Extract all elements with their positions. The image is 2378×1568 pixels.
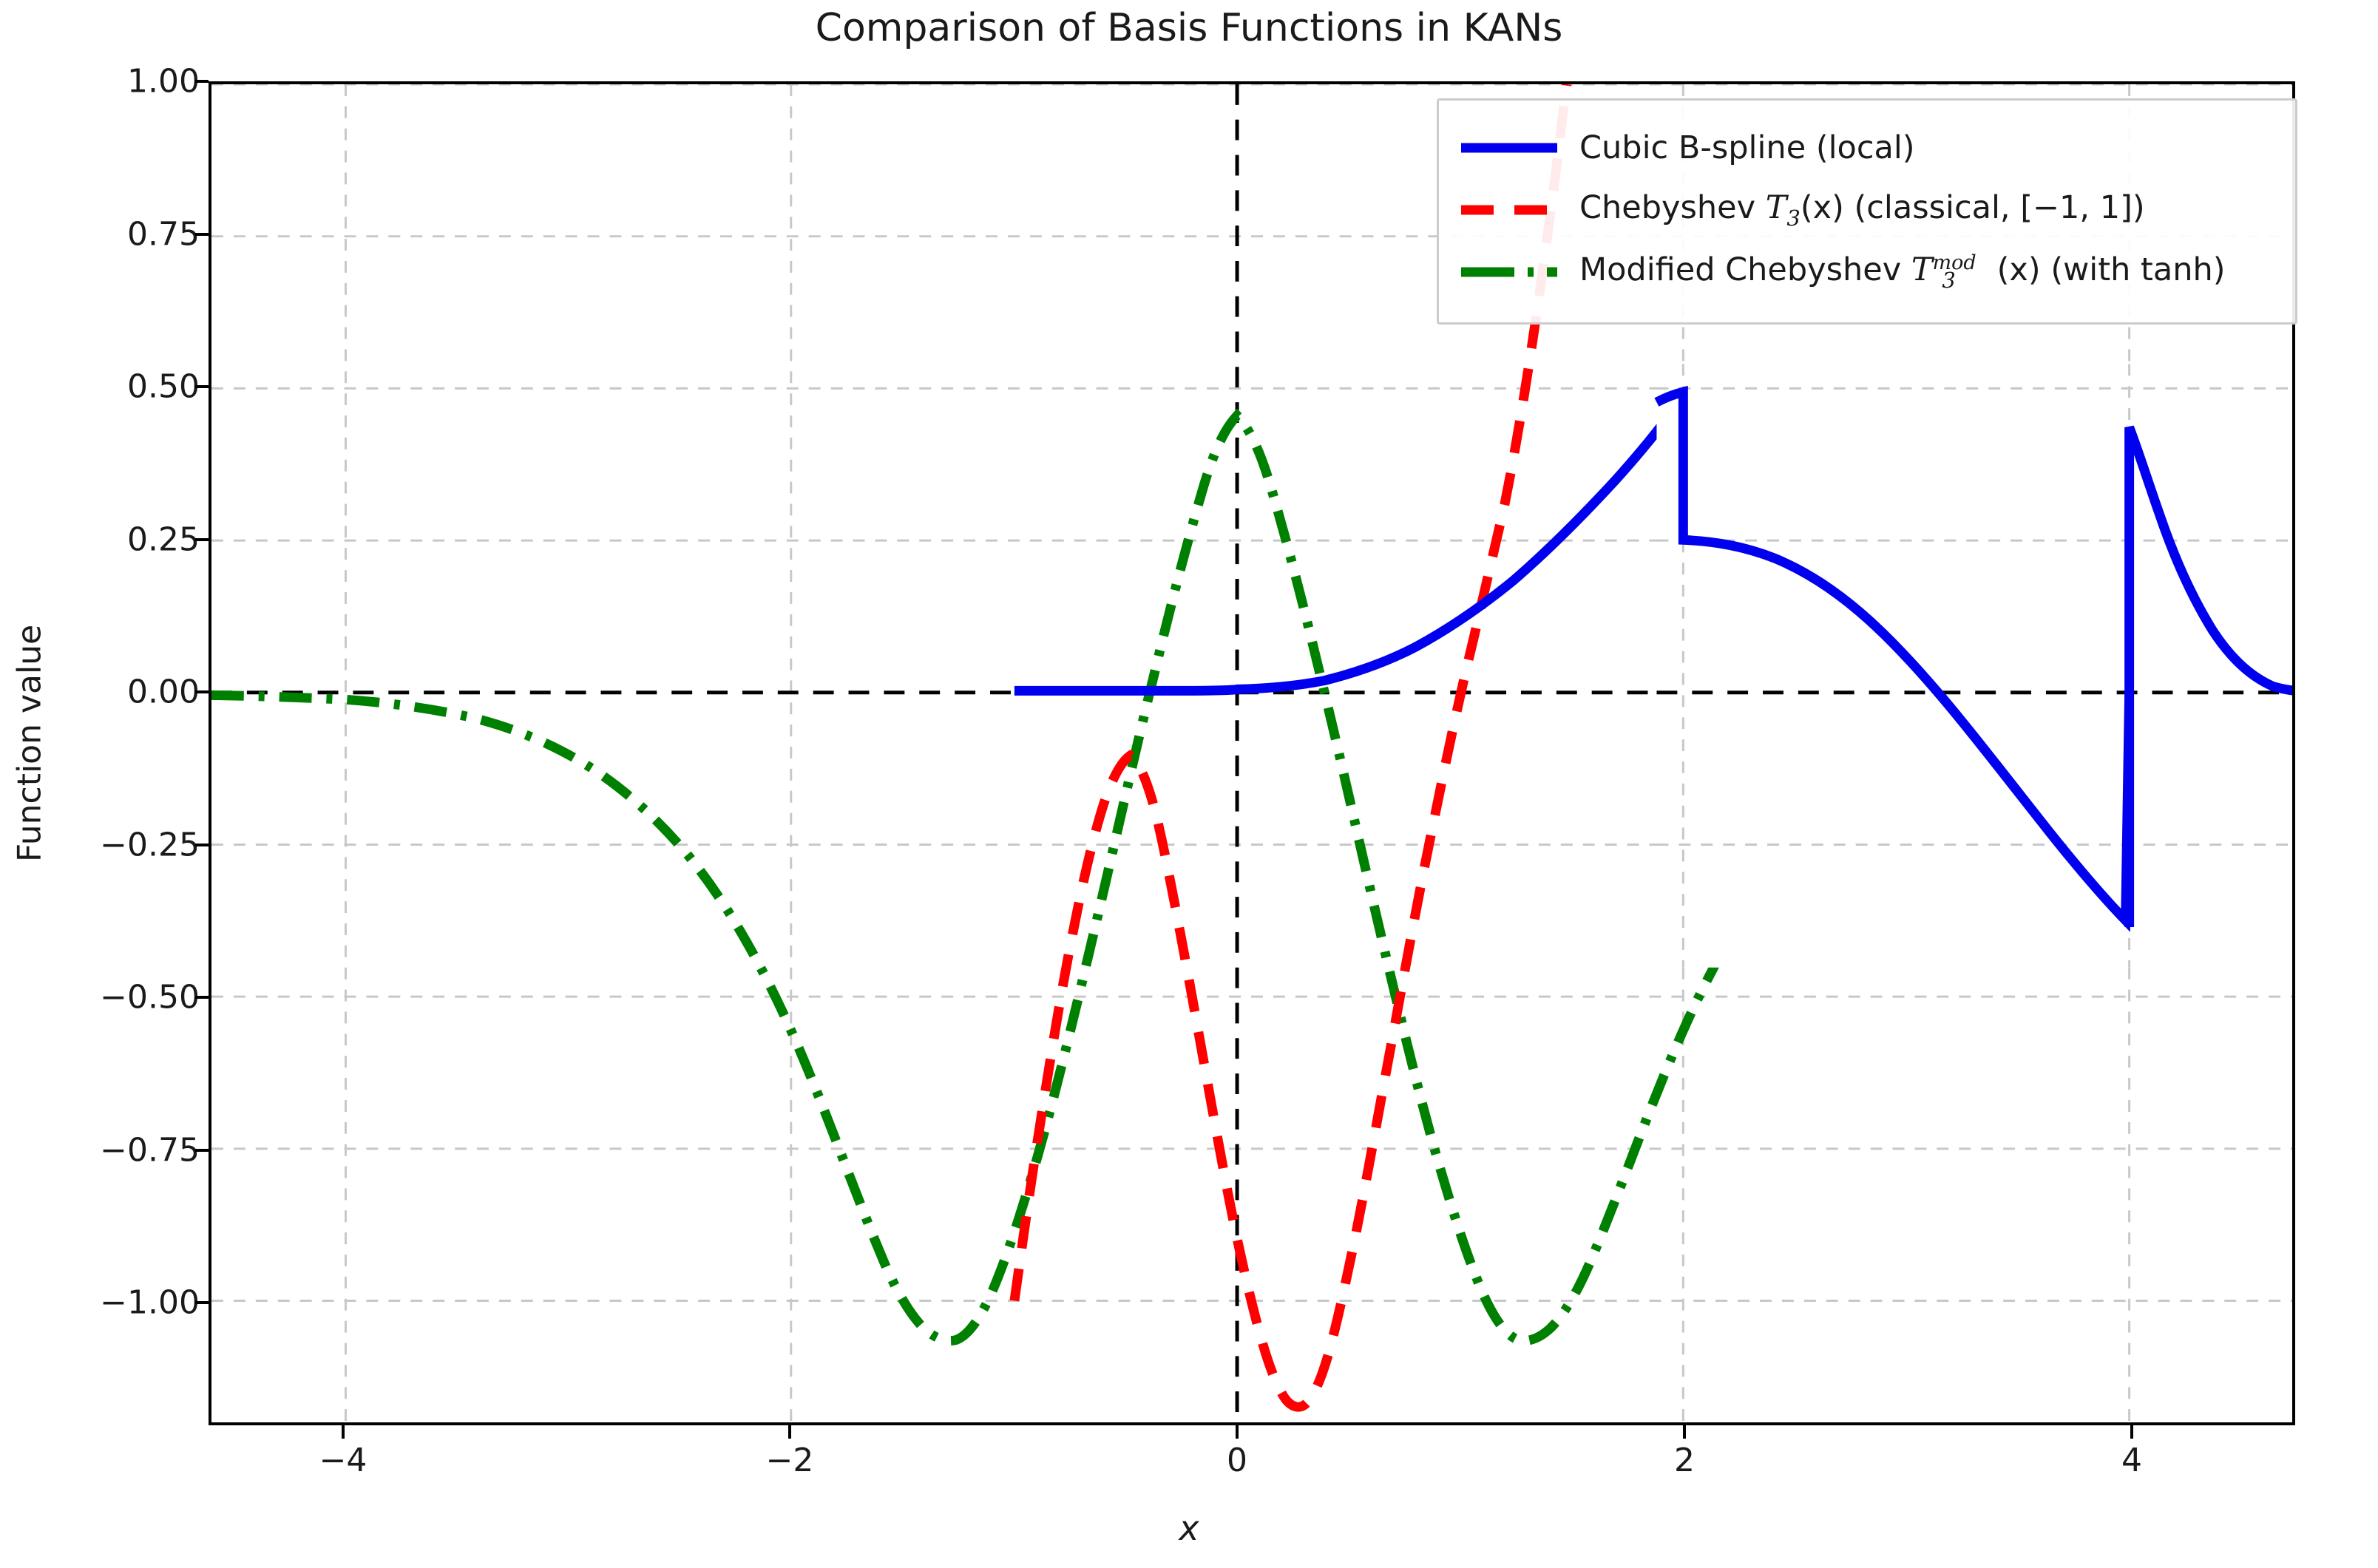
x-tick-mark (1236, 1425, 1239, 1439)
y-tick-label: −1.00 (0, 1284, 200, 1322)
y-tick-mark (195, 690, 209, 693)
legend-label-chebyshev: Chebyshev T3(x) (classical, [−1, 1]) (1579, 189, 2145, 231)
y-tick-mark (195, 1149, 209, 1152)
y-tick-label: −0.75 (0, 1132, 200, 1170)
y-tick-mark (195, 538, 209, 541)
x-tick-mark (788, 1425, 791, 1439)
y-axis-label: Function value (11, 485, 49, 1002)
x-tick-mark (1683, 1425, 1686, 1439)
x-tick-label: −2 (716, 1442, 864, 1479)
figure-canvas: Comparison of Basis Functions in KANs Fu… (0, 0, 2378, 1568)
legend-swatch-solid-line (1458, 133, 1560, 163)
y-tick-label: −0.50 (0, 979, 200, 1017)
y-tick-label: 0.50 (0, 368, 200, 406)
y-tick-mark (195, 80, 209, 83)
x-tick-mark (2130, 1425, 2133, 1439)
legend-label-bspline: Cubic B-spline (local) (1579, 129, 1915, 166)
x-tick-label: −4 (269, 1442, 417, 1479)
legend-swatch-dashed-line (1458, 195, 1560, 225)
x-tick-label: 0 (1163, 1442, 1311, 1479)
y-tick-label: 0.25 (0, 521, 200, 559)
y-tick-label: 0.75 (0, 216, 200, 254)
y-tick-mark (195, 385, 209, 388)
y-tick-label: 1.00 (0, 63, 200, 101)
x-tick-mark (342, 1425, 345, 1439)
y-tick-mark (195, 233, 209, 236)
legend-item-modified-chebyshev[interactable]: Modified Chebyshev Tmod3(x) (with tanh) (1458, 241, 2276, 303)
x-tick-label: 4 (2058, 1442, 2206, 1479)
x-axis-label: x (0, 1508, 2378, 1548)
y-tick-mark (195, 996, 209, 999)
y-tick-mark (195, 844, 209, 846)
legend-swatch-dashdot-line (1458, 257, 1560, 287)
legend-item-chebyshev[interactable]: Chebyshev T3(x) (classical, [−1, 1]) (1458, 179, 2276, 241)
y-tick-label: −0.25 (0, 827, 200, 864)
legend-item-bspline[interactable]: Cubic B-spline (local) (1458, 117, 2276, 179)
legend-label-modified-chebyshev: Modified Chebyshev Tmod3(x) (with tanh) (1579, 251, 2226, 293)
y-tick-mark (195, 1301, 209, 1304)
y-tick-label: 0.00 (0, 673, 200, 711)
chart-legend[interactable]: Cubic B-spline (local) Chebyshev T3(x) (… (1437, 98, 2297, 325)
page-title: Comparison of Basis Functions in KANs (0, 6, 2378, 50)
x-tick-label: 2 (1610, 1442, 1758, 1479)
